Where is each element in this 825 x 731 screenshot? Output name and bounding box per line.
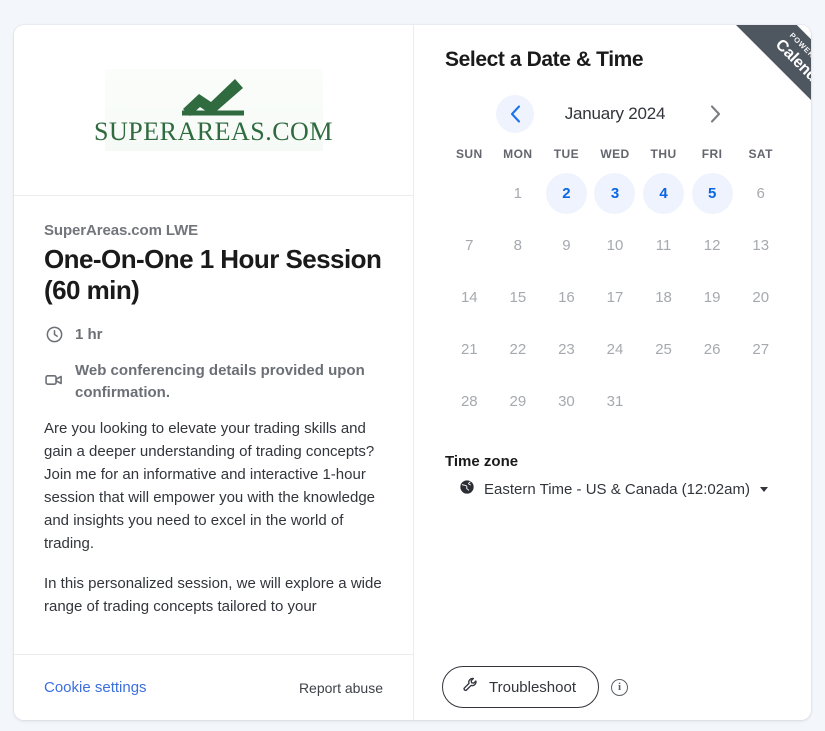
calendar-day-cell: 11 — [639, 219, 688, 271]
current-month-label: January 2024 — [540, 104, 690, 124]
calendar-day-cell: 18 — [639, 271, 688, 323]
calendar-day-24: 24 — [594, 329, 635, 370]
timezone-selector[interactable]: Eastern Time - US & Canada (12:02am) — [445, 479, 785, 499]
event-title: One-On-One 1 Hour Session (60 min) — [44, 244, 383, 305]
timezone-section: Time zone Eastern Time - US & Canada (12… — [445, 453, 785, 499]
calendar-day-cell: 2 — [542, 167, 591, 219]
calendar-day-cell: 20 — [736, 271, 785, 323]
calendar-day-17: 17 — [594, 277, 635, 318]
duration-text: 1 hr — [75, 323, 103, 346]
calendar-day-cell: 12 — [688, 219, 737, 271]
calendar-day-8: 8 — [497, 225, 538, 266]
calendar-navigation: January 2024 — [445, 95, 785, 133]
date-time-panel: Select a Date & Time January 2024 SUNMON… — [414, 25, 811, 720]
calendar-day-cell: 23 — [542, 323, 591, 375]
info-icon[interactable]: i — [611, 679, 628, 696]
calendar-day-30: 30 — [546, 381, 587, 422]
calendar-day-cell: 13 — [736, 219, 785, 271]
chevron-right-icon — [710, 105, 721, 123]
organizer-name: SuperAreas.com LWE — [44, 222, 383, 239]
calendar-day-5[interactable]: 5 — [692, 173, 733, 214]
calendar-day-cell: 6 — [736, 167, 785, 219]
calendar-day-cell: 16 — [542, 271, 591, 323]
rising-chart-arrow-icon — [139, 77, 289, 117]
calendar-day-cell: 29 — [494, 375, 543, 427]
calendar-day-cell: 28 — [445, 375, 494, 427]
calendar-day-6: 6 — [740, 173, 781, 214]
calendar-day-cell: 27 — [736, 323, 785, 375]
calendar-day-cell: 15 — [494, 271, 543, 323]
calendar-day-4[interactable]: 4 — [643, 173, 684, 214]
left-footer: Cookie settings Report abuse — [14, 654, 413, 720]
calendar-day-cell: 17 — [591, 271, 640, 323]
calendar-day-cell: 26 — [688, 323, 737, 375]
calendar-day-cell: 22 — [494, 323, 543, 375]
calendar-day-cell: 7 — [445, 219, 494, 271]
calendar-day-cell: 21 — [445, 323, 494, 375]
calendar-day-27: 27 — [740, 329, 781, 370]
calendar-day-2[interactable]: 2 — [546, 173, 587, 214]
calendar-day-14: 14 — [449, 277, 490, 318]
calendar-day-25: 25 — [643, 329, 684, 370]
calendar-day-cell: 19 — [688, 271, 737, 323]
location-text: Web conferencing details provided upon c… — [75, 359, 383, 404]
event-info: SuperAreas.com LWE One-On-One 1 Hour Ses… — [14, 196, 413, 654]
logo-wordmark: SUPERAREAS.COM — [94, 119, 333, 145]
calendar-day-cell: 8 — [494, 219, 543, 271]
panel-title: Select a Date & Time — [445, 48, 785, 72]
calendar-day-cell: 10 — [591, 219, 640, 271]
duration-row: 1 hr — [44, 323, 383, 346]
calendar-day-cell: 3 — [591, 167, 640, 219]
calendar-day-18: 18 — [643, 277, 684, 318]
calendar-day-cell: 25 — [639, 323, 688, 375]
calendar-day-21: 21 — [449, 329, 490, 370]
calendar-day-cell: 9 — [542, 219, 591, 271]
event-description: Are you looking to elevate your trading … — [44, 417, 383, 623]
location-row: Web conferencing details provided upon c… — [44, 359, 383, 404]
calendar-day-23: 23 — [546, 329, 587, 370]
day-of-week-sat: SAT — [736, 147, 785, 161]
previous-month-button[interactable] — [496, 95, 534, 133]
calendar-day-16: 16 — [546, 277, 587, 318]
calendar-day-cell: 4 — [639, 167, 688, 219]
calendar-day-cell: 14 — [445, 271, 494, 323]
calendar-day-10: 10 — [594, 225, 635, 266]
calendar-day-20: 20 — [740, 277, 781, 318]
cookie-settings-link[interactable]: Cookie settings — [44, 679, 147, 696]
calendar-day-cell: 30 — [542, 375, 591, 427]
globe-icon — [459, 479, 475, 499]
calendar-day-22: 22 — [497, 329, 538, 370]
calendar-day-13: 13 — [740, 225, 781, 266]
troubleshoot-button[interactable]: Troubleshoot — [442, 666, 599, 708]
calendar-day-7: 7 — [449, 225, 490, 266]
calendar-day-9: 9 — [546, 225, 587, 266]
description-paragraph: In this personalized session, we will ex… — [44, 572, 383, 618]
clock-icon — [44, 324, 64, 344]
troubleshoot-label: Troubleshoot — [489, 679, 576, 696]
calendar-day-29: 29 — [497, 381, 538, 422]
calendar-day-cell: 1 — [494, 167, 543, 219]
day-of-week-fri: FRI — [688, 147, 737, 161]
day-of-week-wed: WED — [591, 147, 640, 161]
day-of-week-sun: SUN — [445, 147, 494, 161]
right-footer: Troubleshoot i — [442, 654, 785, 720]
day-of-week-header: SUNMONTUEWEDTHUFRISAT — [445, 147, 785, 161]
timezone-value: Eastern Time - US & Canada (12:02am) — [484, 481, 750, 498]
calendar-day-28: 28 — [449, 381, 490, 422]
logo-area: SUPERAREAS.COM — [14, 25, 413, 196]
next-month-button[interactable] — [696, 95, 734, 133]
chevron-down-icon — [760, 487, 768, 492]
calendar-day-15: 15 — [497, 277, 538, 318]
calendar-day-cell: 31 — [591, 375, 640, 427]
day-of-week-thu: THU — [639, 147, 688, 161]
calendar-day-26: 26 — [692, 329, 733, 370]
day-of-week-tue: TUE — [542, 147, 591, 161]
description-paragraph: Are you looking to elevate your trading … — [44, 417, 383, 556]
timezone-label: Time zone — [445, 453, 785, 470]
report-abuse-link[interactable]: Report abuse — [299, 680, 383, 696]
calendar-blank-cell — [445, 167, 494, 219]
event-details-panel: SUPERAREAS.COM SuperAreas.com LWE One-On… — [14, 25, 414, 720]
calendar-day-cell: 24 — [591, 323, 640, 375]
chevron-left-icon — [510, 105, 521, 123]
calendar-grid: 1234567891011121314151617181920212223242… — [445, 167, 785, 427]
calendly-booking-page: SUPERAREAS.COM SuperAreas.com LWE One-On… — [0, 0, 825, 731]
calendar-day-12: 12 — [692, 225, 733, 266]
booking-card: SUPERAREAS.COM SuperAreas.com LWE One-On… — [14, 25, 811, 720]
calendar-day-31: 31 — [594, 381, 635, 422]
organizer-logo: SUPERAREAS.COM — [105, 69, 323, 151]
calendar-day-1: 1 — [497, 173, 538, 214]
calendar-day-cell: 5 — [688, 167, 737, 219]
calendar-day-11: 11 — [643, 225, 684, 266]
wrench-icon — [462, 676, 480, 698]
day-of-week-mon: MON — [494, 147, 543, 161]
calendar-day-19: 19 — [692, 277, 733, 318]
calendar-day-3[interactable]: 3 — [594, 173, 635, 214]
video-camera-icon — [44, 370, 64, 390]
